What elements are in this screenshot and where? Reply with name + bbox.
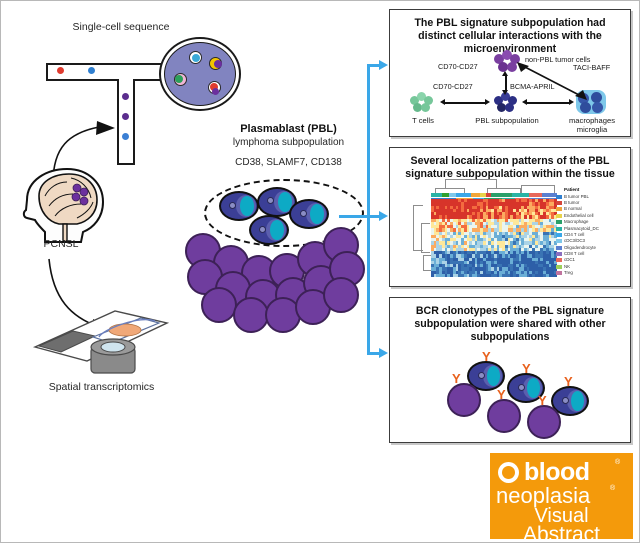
label-pbl-subpopulation: PBL subpopulation bbox=[467, 116, 547, 125]
heatmap-matrix bbox=[431, 199, 557, 277]
legend-item-label: B normal bbox=[564, 206, 582, 211]
legend-swatch bbox=[556, 271, 562, 275]
legend-swatch bbox=[556, 227, 562, 231]
arrowhead-up-pbl-tumor bbox=[502, 71, 508, 76]
column-dendrogram bbox=[445, 179, 497, 188]
panel-interactions: The PBL signature subpopulation had dist… bbox=[389, 9, 631, 137]
label-cd70-cd27-lower: CD70-CD27 bbox=[433, 82, 473, 91]
pbl-title: Plasmablast (PBL) bbox=[201, 123, 376, 136]
legend-item-label: cDC1 bbox=[564, 257, 575, 262]
bcr-receptor-icon: Y bbox=[482, 350, 491, 363]
pbl-cell bbox=[249, 215, 289, 245]
legend-item-label: cDC3/DC3 bbox=[564, 238, 585, 243]
pbl-cell bbox=[219, 191, 259, 221]
cluster-t-cells bbox=[410, 92, 434, 114]
reagent-dot-blue-2 bbox=[122, 133, 129, 140]
bead-cell-pair-4 bbox=[208, 81, 221, 94]
label-bcma-april: BCMA-APRIL bbox=[510, 82, 555, 91]
legend-swatch bbox=[556, 207, 562, 211]
logo-word-abstract: Abstract bbox=[490, 523, 633, 543]
bcr-tumor-cell bbox=[447, 383, 481, 417]
legend-item-label: Plasmacytoid_DC bbox=[564, 226, 599, 231]
connector-stub-center bbox=[339, 215, 369, 218]
legend-swatch bbox=[556, 258, 562, 262]
bcr-receptor-icon: Y bbox=[522, 362, 531, 375]
legend-item-label: B tumor PBL bbox=[564, 194, 589, 199]
legend-swatch bbox=[556, 201, 562, 205]
reagent-dot-blue bbox=[88, 67, 95, 74]
bead-cell-pair-1 bbox=[189, 51, 202, 64]
blood-journal-mark-icon bbox=[498, 462, 519, 483]
legend-item-label: CD8 T cell bbox=[564, 251, 584, 256]
arrowhead-left-tcells-pbl bbox=[440, 99, 445, 105]
arrow-to-panel-3 bbox=[379, 348, 388, 358]
legend-item-label: CD4 T cell bbox=[564, 232, 584, 237]
legend-swatch bbox=[556, 252, 562, 256]
row-dendrogram-branch bbox=[423, 255, 431, 271]
pcnsl-head-icon bbox=[15, 166, 107, 244]
label-cd70-cd27-upper: CD70-CD27 bbox=[438, 62, 478, 71]
spatial-transcriptomics-label: Spatial transcriptomics bbox=[19, 381, 184, 393]
legend-item-label: NK bbox=[564, 264, 570, 269]
legend-swatch bbox=[556, 195, 562, 199]
tumor-cell bbox=[201, 287, 237, 323]
label-taci-baff: TACI-BAFF bbox=[573, 63, 610, 72]
label-macrophages: macrophages bbox=[556, 116, 628, 125]
annotation-track-celltype bbox=[431, 193, 557, 197]
microfluidic-channel-horizontal bbox=[46, 63, 166, 81]
heatmap-figure: Patient B tumor PBLB tumorB normalEndoth… bbox=[401, 179, 619, 281]
legend-item-label: Macrophage bbox=[564, 219, 588, 224]
bcr-receptor-icon: Y bbox=[452, 372, 461, 385]
bcr-receptor-icon: Y bbox=[538, 394, 547, 407]
legend-item-label: Oligodendrocyte bbox=[564, 245, 596, 250]
heatmap-row bbox=[431, 274, 557, 277]
bcr-receptor-icon: Y bbox=[497, 388, 506, 401]
tumor-cell bbox=[233, 297, 269, 333]
pbl-markers: CD38, SLAMF7, CD138 bbox=[201, 157, 376, 169]
arrow-pbl-macrophages bbox=[526, 102, 570, 104]
legend-swatch bbox=[556, 265, 562, 269]
bead-cell-pair-2 bbox=[209, 57, 222, 70]
reagent-dot-purple-2 bbox=[122, 113, 129, 120]
panel-localization-heading: Several localization patterns of the PBL… bbox=[390, 148, 630, 181]
single-cell-sequence-title: Single-cell sequence bbox=[41, 21, 201, 33]
bcr-tumor-cell bbox=[487, 399, 521, 433]
spatial-transcriptomics-icon bbox=[29, 301, 169, 383]
logo-registered-1: ® bbox=[615, 459, 620, 466]
legend-item-list: B tumor PBLB tumorB normalEndothelial ce… bbox=[564, 194, 620, 277]
pbl-cell bbox=[289, 199, 329, 229]
reagent-dot-purple-1 bbox=[122, 93, 129, 100]
arrow-to-panel-2 bbox=[379, 211, 388, 221]
legend-item-label: B tumor bbox=[564, 200, 579, 205]
blood-neoplasia-logo: blood ® neoplasia ® Visual Abstract bbox=[490, 453, 633, 539]
pcnsl-label: PCNSL bbox=[6, 238, 116, 250]
visual-abstract-canvas: Single-cell sequence bbox=[0, 0, 640, 543]
label-microglia: microglia bbox=[556, 125, 628, 134]
logo-registered-2: ® bbox=[610, 485, 615, 492]
connector-trunk-vertical bbox=[367, 64, 370, 354]
legend-item-label: Treg bbox=[564, 270, 573, 275]
arrow-tcells-pbl bbox=[444, 102, 486, 104]
row-dendrogram-branch bbox=[421, 223, 430, 253]
legend-item: Treg bbox=[564, 270, 620, 276]
reagent-dot-red bbox=[57, 67, 64, 74]
legend-item-label: Endothelial cell bbox=[564, 213, 594, 218]
legend-title: Patient bbox=[564, 187, 620, 194]
panel-bcr-heading: BCR clonotypes of the PBL signature subp… bbox=[390, 298, 630, 345]
arrowhead-down-pbl-tumor bbox=[502, 90, 508, 95]
legend-swatch bbox=[556, 214, 562, 218]
legend-swatch bbox=[556, 233, 562, 237]
bcr-tumor-cell bbox=[527, 405, 561, 439]
legend-swatch bbox=[556, 220, 562, 224]
arrow-to-panel-1 bbox=[379, 60, 388, 70]
bead-cell-pair-3 bbox=[174, 73, 187, 86]
bcr-receptor-icon: Y bbox=[564, 375, 573, 388]
heatmap-legend: Patient B tumor PBLB tumorB normalEndoth… bbox=[564, 187, 620, 277]
pbl-subtitle: lymphoma subpopulation bbox=[201, 137, 376, 149]
legend-swatch bbox=[556, 239, 562, 243]
legend-swatch bbox=[556, 246, 562, 250]
label-t-cells: T cells bbox=[400, 116, 446, 125]
arrowhead-right-tcells-pbl bbox=[485, 99, 490, 105]
droplet-emulsion bbox=[164, 42, 236, 106]
tumor-cell bbox=[323, 277, 359, 313]
